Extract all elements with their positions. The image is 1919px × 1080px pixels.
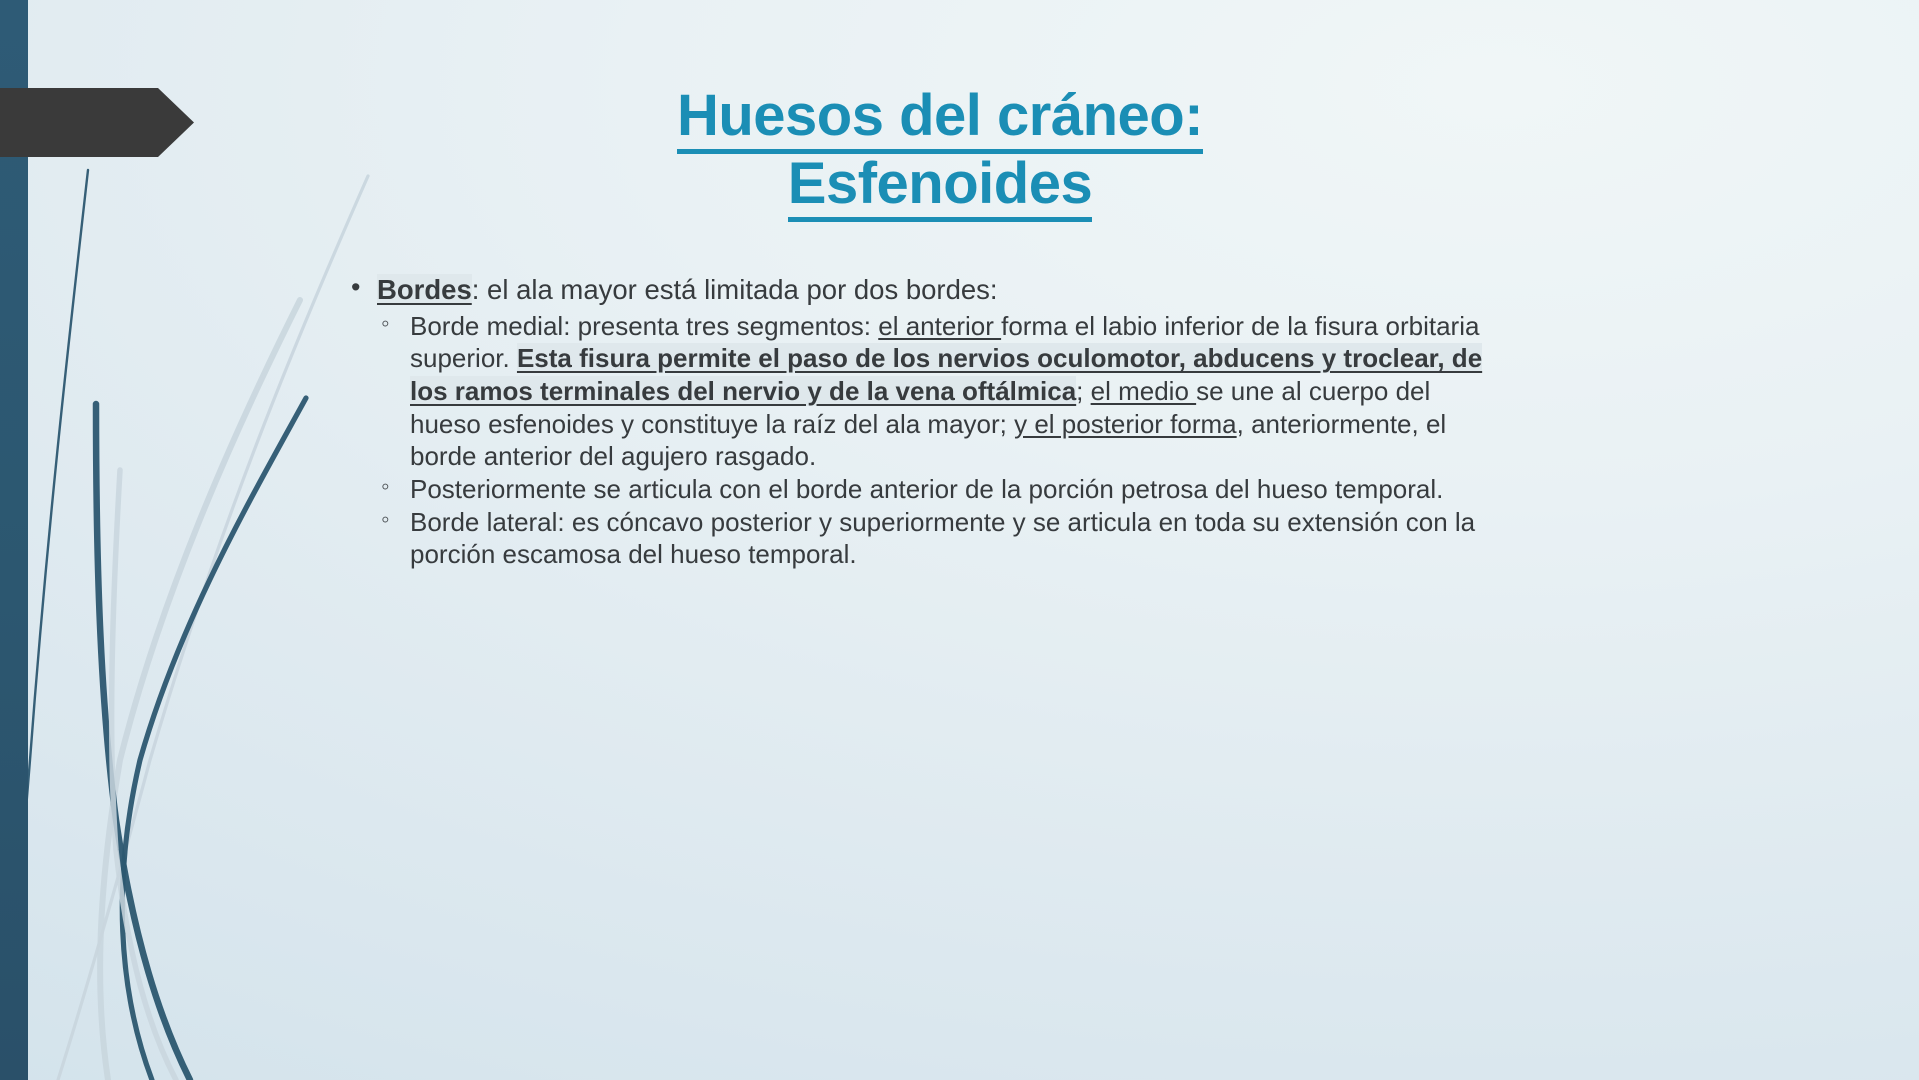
list-item: Posteriormente se articula con el borde … [377, 473, 1505, 506]
presentation-slide: Huesos del cráneo: Esfenoides Bordes: el… [0, 0, 1919, 1080]
text-run: el medio [1091, 376, 1197, 406]
title-line-1: Huesos del cráneo: [440, 82, 1440, 150]
title-line-2: Esfenoides [440, 150, 1440, 218]
text-run: Bordes [377, 274, 472, 305]
text-run: Borde medial: presenta tres segmentos: [410, 311, 878, 341]
list-item: Borde lateral: es cóncavo posterior y su… [377, 506, 1505, 571]
text-run: Borde lateral: es cóncavo posterior y su… [410, 507, 1475, 570]
list-item: Borde medial: presenta tres segmentos: e… [377, 310, 1505, 473]
bullet-list-level2: Borde medial: presenta tres segmentos: e… [377, 310, 1505, 571]
left-accent-bar [0, 0, 28, 1080]
bullet-list-level1: Bordes: el ala mayor está limitada por d… [345, 272, 1505, 571]
text-run: el anterior [878, 311, 1001, 341]
text-run: Posteriormente se articula con el borde … [410, 474, 1443, 504]
list-item: Bordes: el ala mayor está limitada por d… [345, 272, 1505, 571]
text-run: : el ala mayor está limitada por dos bor… [472, 274, 998, 305]
text-run: ; [1076, 376, 1090, 406]
page-title: Huesos del cráneo: Esfenoides [440, 82, 1440, 219]
title-line-2-text: Esfenoides [788, 151, 1092, 222]
text-run: y el posterior forma [1014, 409, 1237, 439]
arrow-banner-shape [0, 88, 194, 157]
title-line-1-text: Huesos del cráneo: [677, 83, 1203, 154]
slide-body: Bordes: el ala mayor está limitada por d… [345, 272, 1505, 573]
